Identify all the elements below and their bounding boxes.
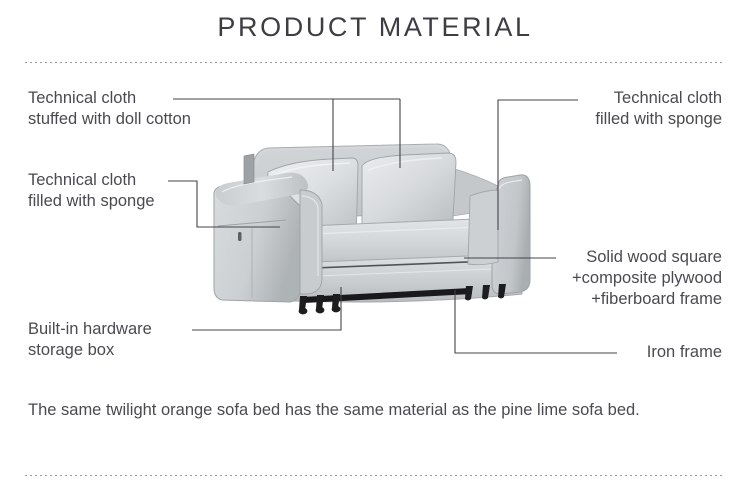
- bottom-dotted-divider: [25, 475, 725, 476]
- callout-label-frame-material: Solid wood square +composite plywood +fi…: [422, 247, 722, 310]
- callout-label-arm-filling-left: Technical cloth filled with sponge: [28, 170, 155, 212]
- callout-label-iron-frame: Iron frame: [522, 342, 722, 363]
- material-note: The same twilight orange sofa bed has th…: [28, 398, 698, 423]
- leader-storage-box: [192, 287, 341, 330]
- callout-label-arm-filling-right: Technical cloth filled with sponge: [452, 88, 722, 130]
- callout-label-storage-box: Built-in hardware storage box: [28, 319, 152, 361]
- leader-arm-filling-left: [168, 181, 280, 227]
- callout-label-cushion-filling: Technical cloth stuffed with doll cotton: [28, 88, 191, 130]
- product-material-infographic: PRODUCT MATERIAL: [0, 0, 750, 498]
